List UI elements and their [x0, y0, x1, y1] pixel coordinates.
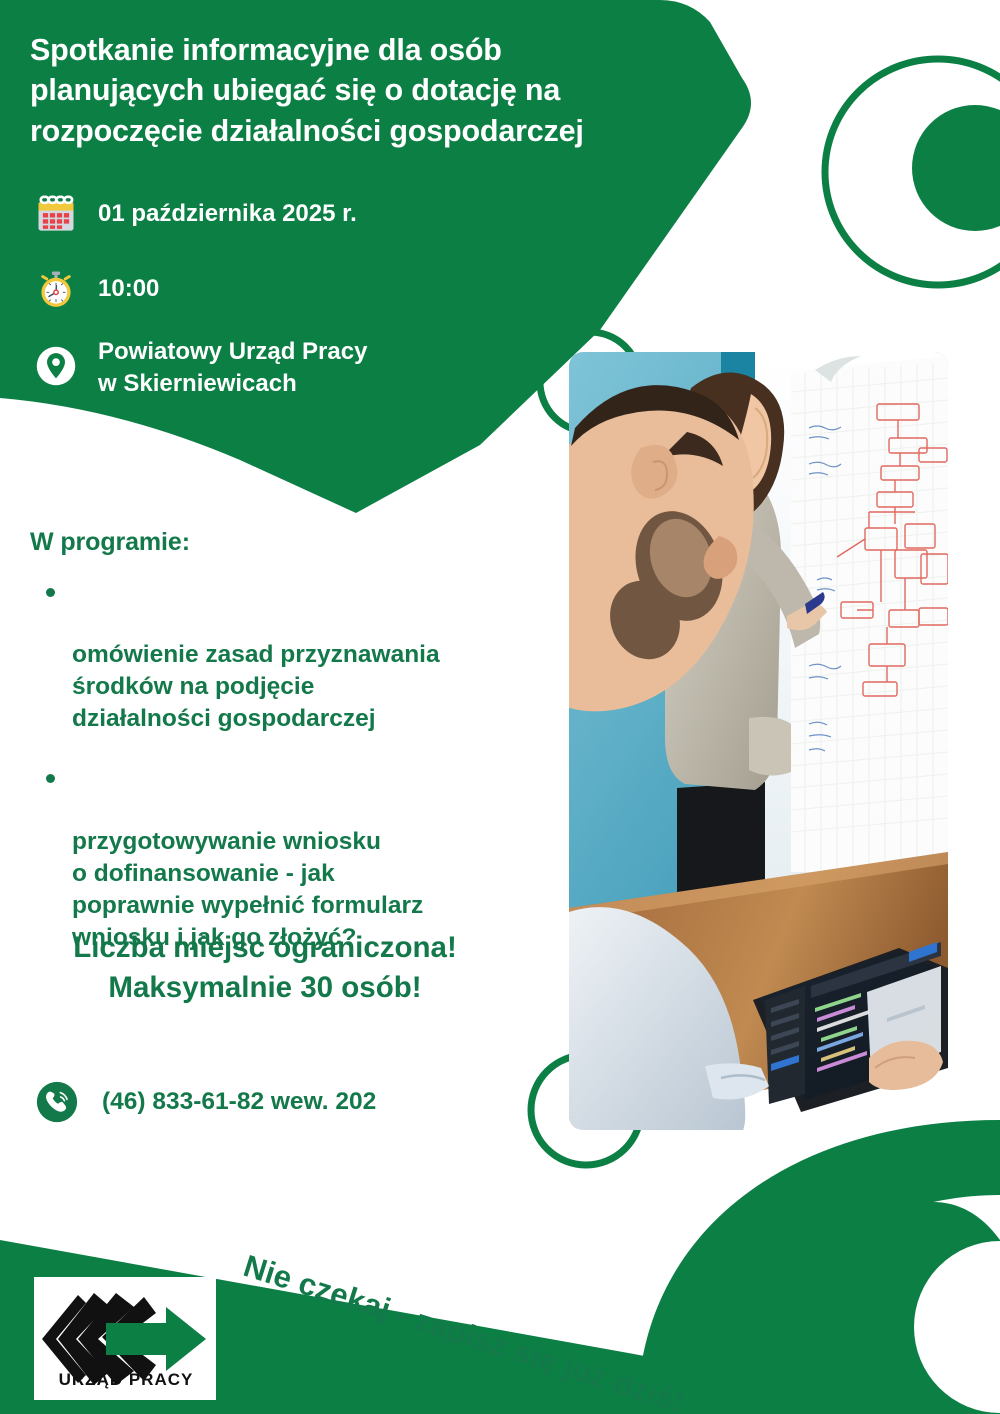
footer-white-circle-cutout	[914, 1241, 1000, 1413]
page-title: Spotkanie informacyjne dla osób planując…	[30, 30, 670, 151]
footer-green-arc	[640, 1120, 1000, 1374]
bullet-icon	[46, 588, 55, 597]
phone-icon	[28, 1073, 86, 1131]
location-pin-icon	[28, 338, 84, 394]
event-photo	[569, 352, 948, 1130]
program-heading: W programie:	[30, 528, 550, 557]
detail-row-time: 10:00	[28, 261, 548, 317]
program-section: W programie: omówienie zasad przyznawani…	[30, 528, 550, 980]
footer-green-blob	[700, 1202, 1000, 1414]
ring-outline-top-right	[825, 59, 1000, 285]
detail-time-label: 10:00	[98, 273, 159, 305]
detail-date-label: 01 października 2025 r.	[98, 198, 357, 230]
poster-root: Spotkanie informacyjne dla osób planując…	[0, 0, 1000, 1414]
phone-number: (46) 833-61-82 wew. 202	[102, 1088, 376, 1116]
tagline-text: Nie czekaj - zapisz się już dziś!	[239, 1248, 688, 1414]
event-details: 01 października 2025 r.	[28, 186, 548, 418]
logo-label: URZĄD PRACY	[59, 1370, 194, 1389]
stopwatch-icon	[28, 261, 84, 317]
program-list: omówienie zasad przyznawania środków na …	[30, 575, 550, 954]
detail-row-place: Powiatowy Urząd Pracy w Skierniewicach	[28, 336, 548, 399]
detail-row-date: 01 października 2025 r.	[28, 186, 548, 242]
contact-phone[interactable]: (46) 833-61-82 wew. 202	[28, 1073, 376, 1131]
solid-dot-top-right	[912, 105, 1000, 231]
urzad-pracy-logo: URZĄD PRACY	[34, 1277, 216, 1400]
limited-seats-notice: Liczba miejsc ograniczona! Maksymalnie 3…	[0, 928, 530, 1007]
detail-place-label: Powiatowy Urząd Pracy w Skierniewicach	[98, 336, 367, 399]
bullet-icon	[46, 774, 55, 783]
program-list-item: omówienie zasad przyznawania środków na …	[42, 575, 550, 735]
program-item-text: omówienie zasad przyznawania środków na …	[72, 641, 440, 732]
calendar-icon	[28, 186, 84, 242]
program-list-item: przygotowywanie wniosku o dofinansowanie…	[42, 761, 550, 954]
